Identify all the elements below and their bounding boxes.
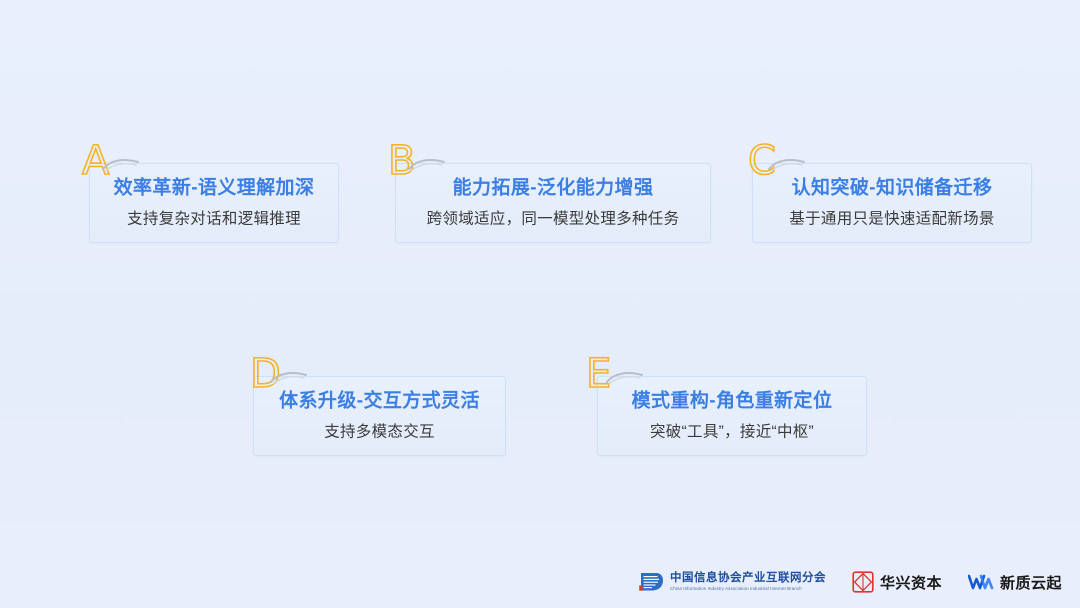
card-b-subtitle: 跨领域适应，同一模型处理多种任务 (404, 209, 702, 229)
feature-card-c[interactable]: 认知突破-知识储备迁移 基于通用只是快速适配新场景 (752, 163, 1032, 243)
card-d-content: 体系升级-交互方式灵活 支持多模态交互 (254, 390, 505, 443)
card-a-title: 效率革新-语义理解加深 (98, 177, 330, 201)
logo-huaxing-capital: 华兴资本 (852, 571, 942, 593)
huaxing-capital-icon (852, 571, 874, 593)
logo-china-information-industry-association: 中国信息协会产业互联网分会 China Information Industry… (638, 570, 826, 594)
xinzhi-yunqi-icon (968, 572, 994, 592)
china-information-industry-association-icon (638, 570, 664, 594)
card-c-title: 认知突破-知识储备迁移 (761, 177, 1023, 201)
card-c-content: 认知突破-知识储备迁移 基于通用只是快速适配新场景 (753, 177, 1031, 230)
logo-name-cn-huaxing: 华兴资本 (880, 572, 942, 593)
card-b-content: 能力拓展-泛化能力增强 跨领域适应，同一模型处理多种任务 (396, 177, 710, 230)
card-c-subtitle: 基于通用只是快速适配新场景 (761, 209, 1023, 229)
logo-xinzhi-yunqi: 新质云起 (968, 572, 1062, 593)
slide-canvas: 效率革新-语义理解加深 支持复杂对话和逻辑推理 A 能力拓展-泛化能力增强 跨领… (0, 0, 1080, 608)
logo-name-en-ciia: China Information Industry Association I… (670, 587, 826, 591)
card-e-content: 模式重构-角色重新定位 突破“工具”，接近“中枢” (598, 390, 866, 443)
footer-logo-bar: 中国信息协会产业互联网分会 China Information Industry… (0, 556, 1080, 608)
card-d-title: 体系升级-交互方式灵活 (262, 390, 497, 414)
feature-card-a[interactable]: 效率革新-语义理解加深 支持复杂对话和逻辑推理 (89, 163, 339, 243)
card-d-subtitle: 支持多模态交互 (262, 422, 497, 442)
logo-text-block-ciia: 中国信息协会产业互联网分会 China Information Industry… (670, 573, 826, 591)
feature-card-b[interactable]: 能力拓展-泛化能力增强 跨领域适应，同一模型处理多种任务 (395, 163, 711, 243)
card-e-title: 模式重构-角色重新定位 (606, 390, 858, 414)
card-a-subtitle: 支持复杂对话和逻辑推理 (98, 209, 330, 229)
feature-card-d[interactable]: 体系升级-交互方式灵活 支持多模态交互 (253, 376, 506, 456)
card-b-title: 能力拓展-泛化能力增强 (404, 177, 702, 201)
feature-card-e[interactable]: 模式重构-角色重新定位 突破“工具”，接近“中枢” (597, 376, 867, 456)
logo-name-cn-xinzhi: 新质云起 (1000, 572, 1062, 593)
card-e-subtitle: 突破“工具”，接近“中枢” (606, 422, 858, 442)
logo-name-cn-ciia: 中国信息协会产业互联网分会 (670, 573, 826, 585)
card-a-content: 效率革新-语义理解加深 支持复杂对话和逻辑推理 (90, 177, 338, 230)
